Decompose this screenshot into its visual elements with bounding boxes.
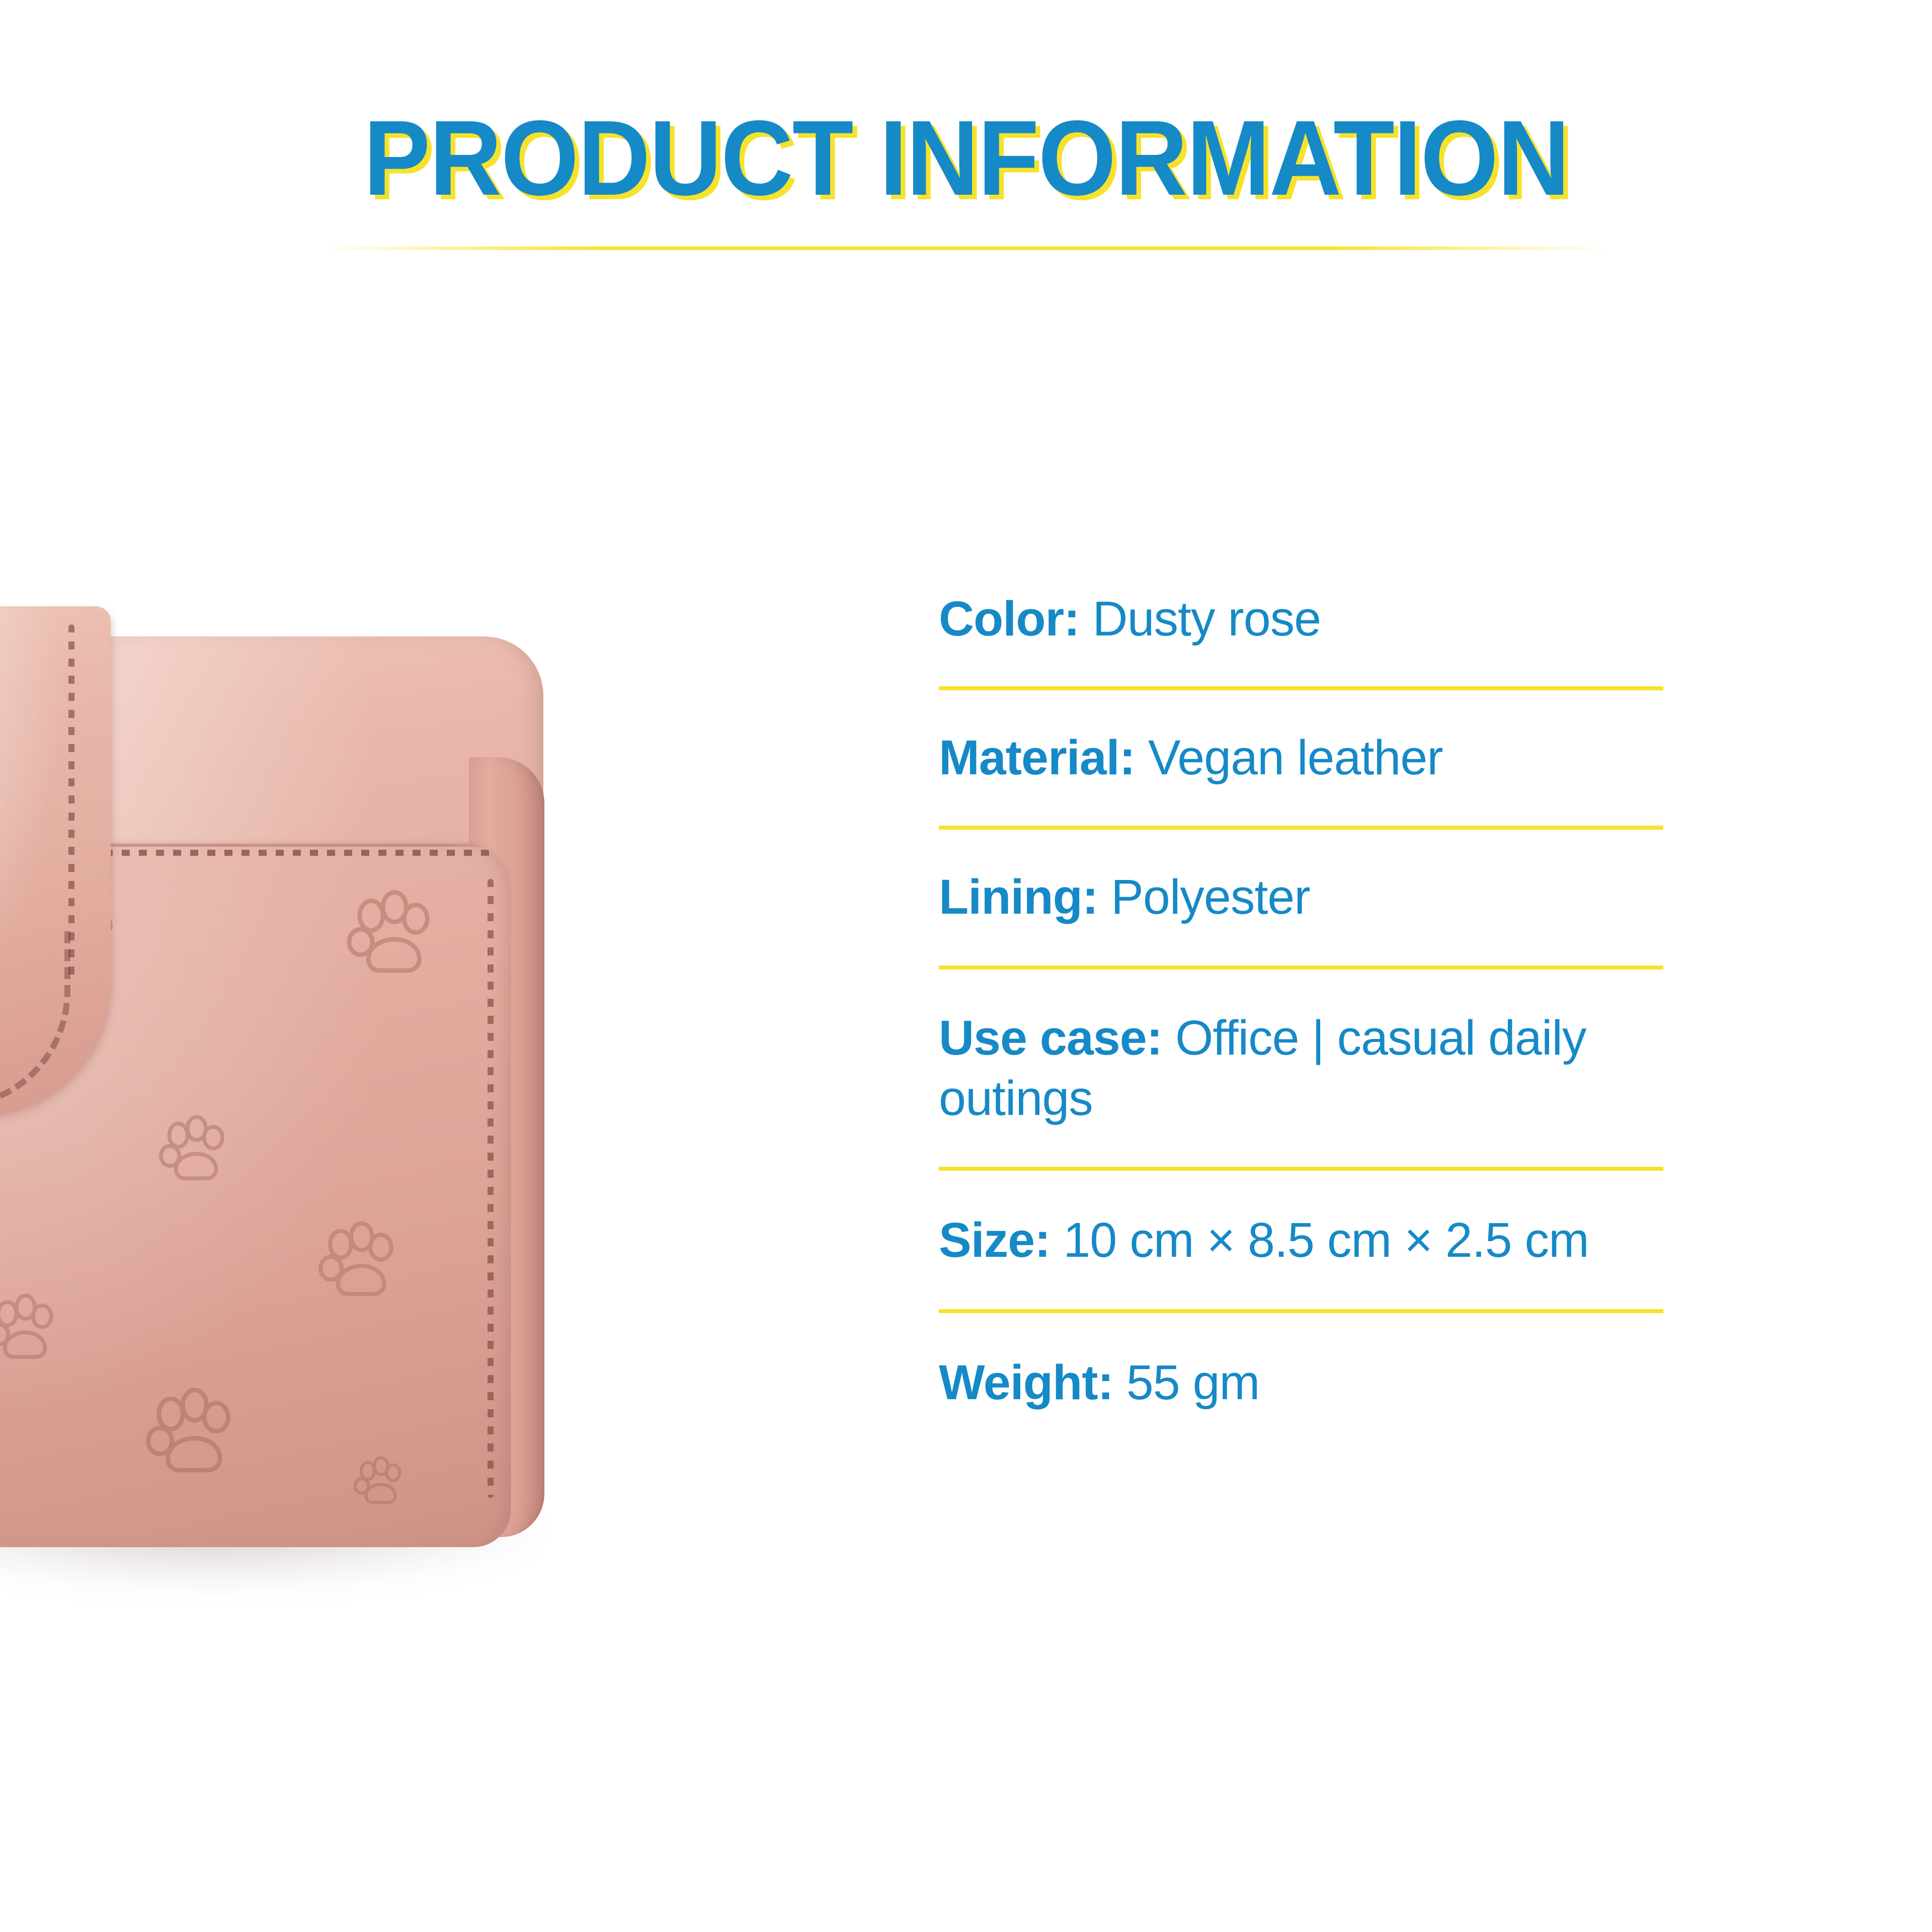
spec-label-color: Color: [939, 591, 1080, 646]
paw-print-icon [138, 1384, 247, 1492]
title-underline-divider [322, 247, 1610, 250]
spec-value-material: Vegan leather [1148, 730, 1443, 785]
wallet-illustration [0, 606, 714, 1560]
spec-row-size: Size: 10 cm × 8.5 cm × 2.5 cm [939, 1171, 1663, 1309]
spec-row-use-case: Use case: Office | casual daily outings [939, 970, 1663, 1167]
spec-divider [939, 965, 1663, 970]
paw-print-icon [312, 1218, 408, 1313]
spec-label-use-case: Use case: [939, 1010, 1162, 1065]
product-information-page: PRODUCT INFORMATION [0, 0, 1932, 1932]
paw-print-icon [0, 1291, 65, 1374]
product-photo [0, 606, 714, 1560]
spec-label-weight: Weight: [939, 1355, 1113, 1410]
flap-stitching-curve [0, 928, 70, 1109]
spec-row-color: Color: Dusty rose [939, 589, 1663, 686]
spec-row-material: Material: Vegan leather [939, 690, 1663, 825]
page-title: PRODUCT INFORMATION [363, 105, 1569, 211]
spec-divider [939, 1309, 1663, 1313]
spec-row-weight: Weight: 55 gm [939, 1313, 1663, 1413]
paw-print-icon [153, 1112, 236, 1195]
flap-stitching [68, 624, 74, 977]
wallet-closure-flap [0, 606, 111, 1117]
wallet-right-stitching [488, 879, 494, 1498]
spec-divider [939, 686, 1663, 690]
spec-value-weight: 55 gm [1126, 1355, 1260, 1410]
paw-print-icon [350, 1454, 410, 1514]
product-specs-list: Color: Dusty rose Material: Vegan leathe… [939, 589, 1663, 1413]
paw-print-icon [340, 886, 445, 992]
spec-row-lining: Lining: Polyester [939, 830, 1663, 965]
spec-value-size: 10 cm × 8.5 cm × 2.5 cm [1063, 1213, 1588, 1267]
spec-divider [939, 826, 1663, 830]
header: PRODUCT INFORMATION [0, 105, 1932, 211]
spec-label-material: Material: [939, 730, 1135, 785]
spec-divider [939, 1167, 1663, 1171]
spec-value-color: Dusty rose [1093, 591, 1321, 646]
spec-label-lining: Lining: [939, 869, 1098, 924]
spec-value-lining: Polyester [1111, 869, 1310, 924]
spec-label-size: Size: [939, 1213, 1050, 1267]
